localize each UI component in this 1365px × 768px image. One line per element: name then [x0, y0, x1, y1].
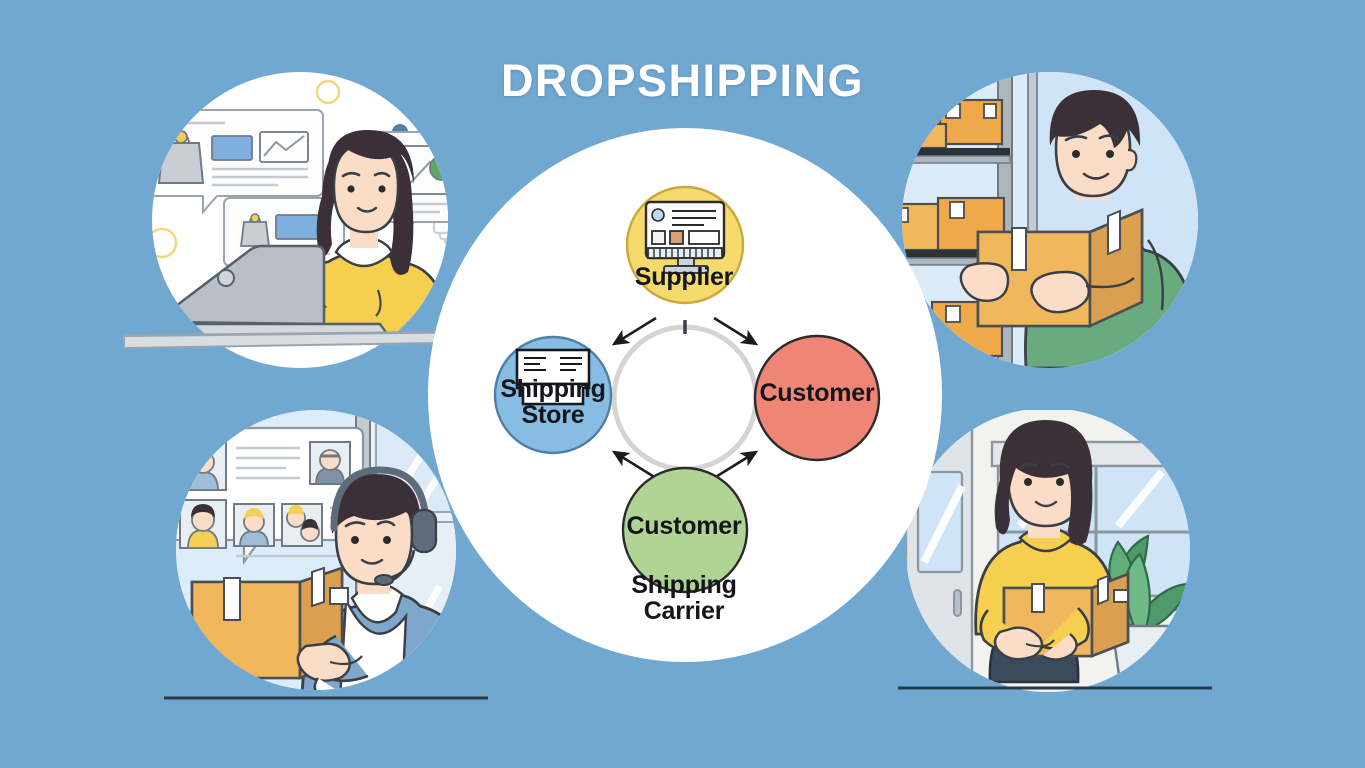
page-title: DROPSHIPPING	[0, 55, 1365, 107]
node-label-shipping-store: Shipping Store	[478, 377, 628, 428]
node-caption-shipping-carrier: Shipping Carrier	[596, 573, 772, 624]
node-label-shipping-store-line2: Store	[478, 403, 628, 429]
node-caption-shipping-carrier-line1: Shipping	[596, 573, 772, 599]
node-caption-shipping-carrier-line2: Carrier	[596, 599, 772, 625]
arrow-carrier-to-customer	[714, 452, 756, 478]
arrow-carrier-to-shipping-store	[614, 452, 656, 478]
node-label-customer-right: Customer	[742, 381, 892, 407]
arrow-supplier-to-customer	[714, 318, 756, 344]
infographic-canvas: DROPSHIPPING Supplier Shipping Store Cus…	[0, 0, 1365, 768]
node-label-shipping-store-line1: Shipping	[478, 377, 628, 403]
node-label-supplier: Supplier	[604, 265, 764, 291]
inner-ring	[614, 327, 756, 469]
arrow-supplier-to-shipping-store	[614, 318, 656, 344]
node-label-customer-bottom: Customer	[604, 514, 764, 540]
